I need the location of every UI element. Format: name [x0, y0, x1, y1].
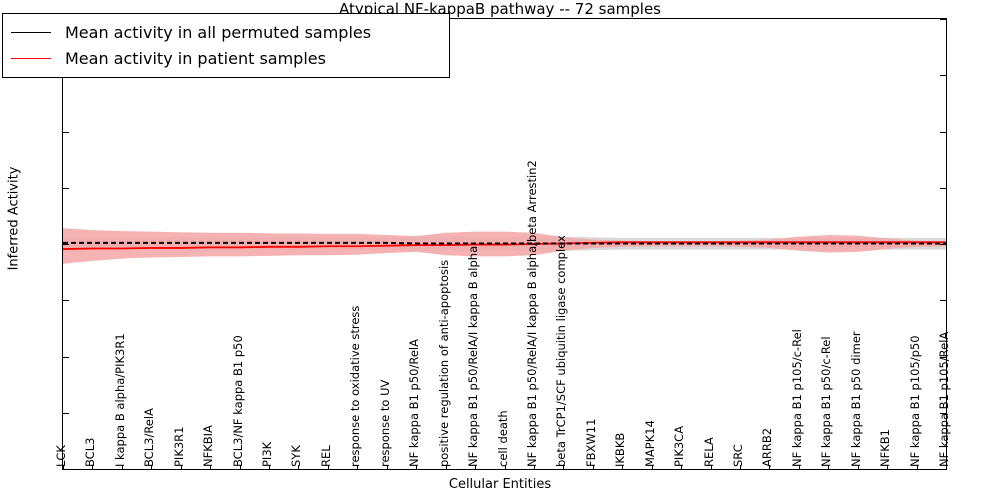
patient-confidence-band [63, 228, 946, 263]
x-tick-mark [122, 465, 123, 469]
y-tick-mark [940, 244, 946, 245]
x-tick-mark [269, 465, 270, 469]
x-tick-mark [387, 465, 388, 469]
y-tick-mark [63, 188, 69, 189]
y-tick-mark [940, 188, 946, 189]
y-tick-mark [940, 357, 946, 358]
x-tick-mark [711, 465, 712, 469]
legend-item-permuted: Mean activity in all permuted samples [11, 19, 441, 45]
x-tick-mark [446, 465, 447, 469]
y-tick-mark [63, 469, 69, 470]
x-tick-mark [593, 465, 594, 469]
x-tick-mark [475, 465, 476, 469]
x-tick-mark [328, 465, 329, 469]
y-tick-mark [63, 300, 69, 301]
x-tick-mark [799, 465, 800, 469]
chart-figure: Atypical NF-kappaB pathway -- 72 samples… [0, 0, 1000, 500]
plot-area [62, 18, 947, 470]
legend-label-permuted: Mean activity in all permuted samples [65, 23, 371, 42]
x-tick-mark [151, 465, 152, 469]
x-tick-mark [740, 465, 741, 469]
x-tick-mark [622, 465, 623, 469]
x-tick-mark [652, 465, 653, 469]
x-tick-mark [210, 465, 211, 469]
y-tick-mark [940, 469, 946, 470]
x-tick-mark [887, 465, 888, 469]
y-tick-mark [940, 75, 946, 76]
y-tick-mark [63, 244, 69, 245]
x-tick-mark [92, 465, 93, 469]
x-tick-mark [357, 465, 358, 469]
x-tick-mark [681, 465, 682, 469]
x-tick-mark [534, 465, 535, 469]
x-tick-mark [505, 465, 506, 469]
legend-line-red-icon [11, 58, 51, 59]
x-tick-mark [563, 465, 564, 469]
x-tick-mark [298, 465, 299, 469]
x-tick-mark [946, 465, 947, 469]
x-tick-mark [769, 465, 770, 469]
y-tick-mark [63, 357, 69, 358]
x-tick-mark [917, 465, 918, 469]
x-tick-mark [181, 465, 182, 469]
y-tick-mark [940, 413, 946, 414]
x-tick-mark [858, 465, 859, 469]
x-tick-mark [416, 465, 417, 469]
plot-canvas [63, 19, 946, 469]
legend-item-patient: Mean activity in patient samples [11, 45, 441, 71]
chart-legend: Mean activity in all permuted samples Me… [2, 13, 450, 78]
x-axis-label: Cellular Entities [0, 477, 1000, 492]
y-tick-mark [940, 132, 946, 133]
y-tick-mark [940, 300, 946, 301]
legend-line-black-icon [11, 32, 51, 33]
legend-label-patient: Mean activity in patient samples [65, 49, 326, 68]
y-tick-mark [63, 132, 69, 133]
y-tick-mark [63, 413, 69, 414]
y-tick-mark [940, 19, 946, 20]
x-tick-mark [240, 465, 241, 469]
x-tick-mark [828, 465, 829, 469]
